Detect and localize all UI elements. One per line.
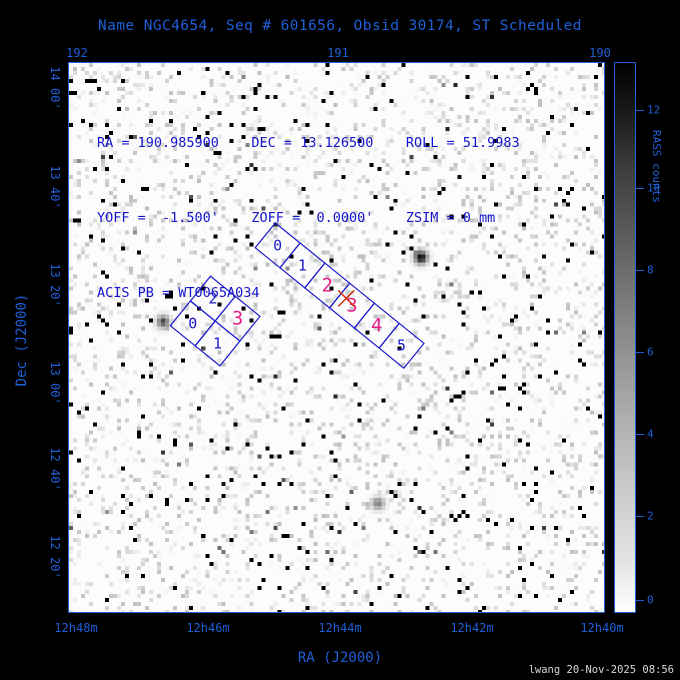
left-tick-1: 13 40' bbox=[48, 165, 62, 208]
acis-detector-overlay: 0123450123 bbox=[69, 63, 604, 612]
chip-label-0: 0 bbox=[273, 236, 282, 254]
colorbar-label: RASS counts bbox=[650, 130, 663, 203]
top-tick-2: 190 bbox=[589, 46, 611, 60]
colorbar-tick-6: 6 bbox=[647, 346, 654, 359]
colorbar-tick-8: 8 bbox=[647, 264, 654, 277]
colorbar-gradient bbox=[614, 62, 636, 613]
top-tick-0: 192 bbox=[66, 46, 88, 60]
chip-label-0: 0 bbox=[188, 314, 197, 332]
chip-label-3: 3 bbox=[346, 295, 357, 317]
chandra-target-view: Name NGC4654, Seq # 601656, Obsid 30174,… bbox=[0, 0, 680, 680]
chip-label-2: 2 bbox=[322, 274, 333, 296]
chip-label-1: 1 bbox=[298, 256, 307, 274]
left-tick-0: 14 00' bbox=[48, 66, 62, 109]
colorbar-tick-0: 0 bbox=[647, 594, 654, 607]
bottom-tick-3: 12h42m bbox=[450, 621, 493, 635]
left-tick-4: 12 40' bbox=[48, 447, 62, 490]
chip-label-3: 3 bbox=[232, 308, 243, 330]
left-tick-5: 12 20' bbox=[48, 535, 62, 578]
colorbar-tick-12: 12 bbox=[647, 104, 660, 117]
chip-label-4: 4 bbox=[371, 315, 382, 337]
page-title: Name NGC4654, Seq # 601656, Obsid 30174,… bbox=[0, 18, 680, 34]
chip-label-5: 5 bbox=[397, 337, 406, 355]
bottom-tick-4: 12h40m bbox=[580, 621, 623, 635]
bottom-tick-2: 12h44m bbox=[318, 621, 361, 635]
chip-label-2: 2 bbox=[208, 290, 217, 308]
top-tick-1: 191 bbox=[327, 46, 349, 60]
left-tick-3: 13 00' bbox=[48, 361, 62, 404]
bottom-tick-1: 12h46m bbox=[186, 621, 229, 635]
credit-timestamp: lwang 20-Nov-2025 08:56 bbox=[529, 664, 674, 676]
bottom-tick-0: 12h48m bbox=[54, 621, 97, 635]
chip-label-1: 1 bbox=[213, 334, 222, 352]
sky-image-plot[interactable]: RA = 190.985900 DEC = 13.126500 ROLL = 5… bbox=[68, 62, 605, 613]
colorbar-tick-4: 4 bbox=[647, 428, 654, 441]
y-axis-label: Dec (J2000) bbox=[14, 294, 30, 387]
left-tick-2: 13 20' bbox=[48, 263, 62, 306]
colorbar-tick-2: 2 bbox=[647, 510, 654, 523]
